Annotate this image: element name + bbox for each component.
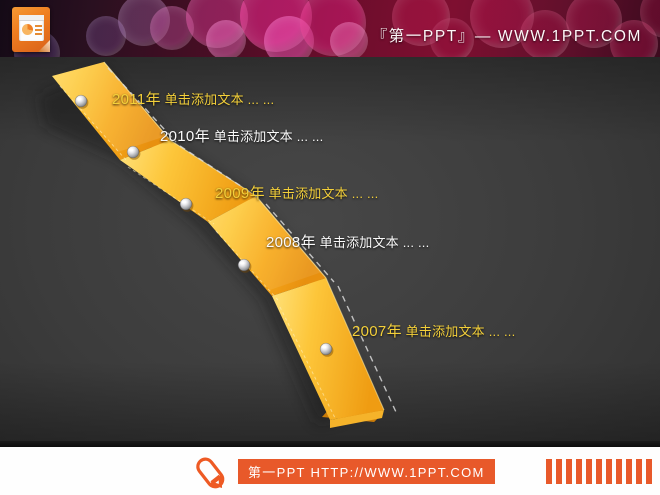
timeline-label-2008[interactable]: 2008年 单击添加文本 ... ... xyxy=(266,235,429,250)
timeline-year: 2011年 xyxy=(112,91,161,108)
footer-stripe xyxy=(566,459,572,484)
timeline-text: 单击添加文本 ... ... xyxy=(265,186,379,201)
timeline-year: 2010年 xyxy=(160,128,210,145)
timeline-label-2010[interactable]: 2010年 单击添加文本 ... ... xyxy=(160,129,323,144)
pen-icon xyxy=(190,452,232,494)
footer-stripe xyxy=(576,459,582,484)
timeline-year: 2009年 xyxy=(215,185,265,202)
footer-stripe xyxy=(606,459,612,484)
footer-stripe xyxy=(546,459,552,484)
footer-stripes xyxy=(546,459,652,484)
footer-stripe xyxy=(596,459,602,484)
timeline-text: 单击添加文本 ... ... xyxy=(210,129,324,144)
timeline-text: 单击添加文本 ... ... xyxy=(161,92,275,107)
timeline-text: 单击添加文本 ... ... xyxy=(402,324,516,339)
footer-stripe xyxy=(646,459,652,484)
footer-url-text: 第一PPT HTTP://WWW.1PPT.COM xyxy=(248,462,485,481)
ppt-slide: 『第一PPT』— WWW.1PPT.COM xyxy=(0,0,660,495)
timeline-year: 2008年 xyxy=(266,234,316,251)
timeline-label-2009[interactable]: 2009年 单击添加文本 ... ... xyxy=(215,186,378,201)
footer-stripe xyxy=(636,459,642,484)
footer-stripe xyxy=(556,459,562,484)
footer-stripe xyxy=(586,459,592,484)
timeline-year: 2007年 xyxy=(352,323,402,340)
footer-stripe xyxy=(616,459,622,484)
timeline-label-2007[interactable]: 2007年 单击添加文本 ... ... xyxy=(352,324,515,339)
timeline-label-2011[interactable]: 2011年 单击添加文本 ... ... xyxy=(112,92,274,107)
footer-stripe xyxy=(626,459,632,484)
footer-url-bar: 第一PPT HTTP://WWW.1PPT.COM xyxy=(238,459,495,484)
timeline-text: 单击添加文本 ... ... xyxy=(316,235,430,250)
